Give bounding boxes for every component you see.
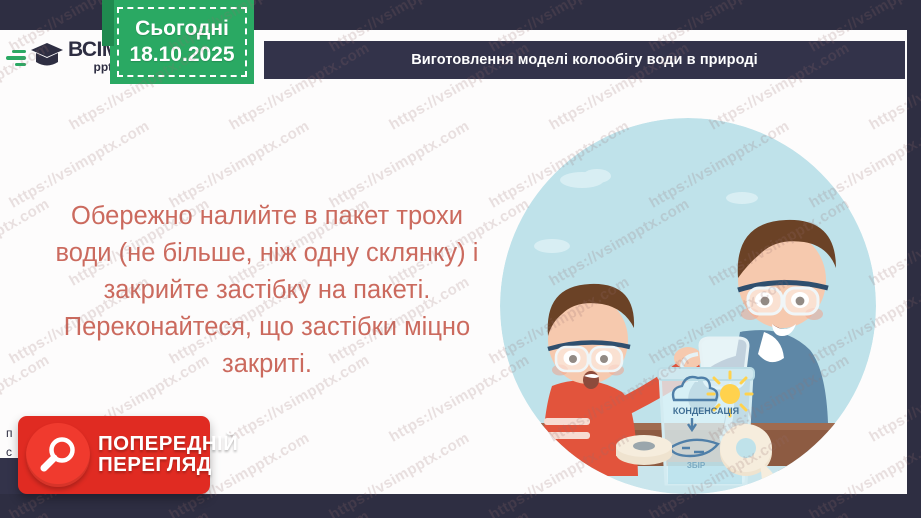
watermark-text: https://vsimpptx.com	[66, 507, 212, 518]
instruction-text: Обережно налийте в пакет трохи води (не …	[42, 198, 492, 383]
watermark-text: https://vsimpptx.com	[386, 507, 532, 518]
slide: 32 пс	[0, 0, 921, 518]
watermark-text: https://vsimpptx.com	[866, 507, 921, 518]
today-date-badge: Сьогодні 18.10.2025	[110, 0, 254, 84]
preview-badge[interactable]: ПОПЕРЕДНІЙ ПЕРЕГЛЯД	[18, 416, 210, 494]
graduation-cap-icon	[30, 39, 64, 73]
preview-line-1: ПОПЕРЕДНІЙ	[98, 434, 238, 455]
watermark-text: https://vsimpptx.com	[706, 507, 852, 518]
watermark-text: https://vsimpptx.com	[546, 507, 692, 518]
badge-fold	[102, 0, 114, 46]
instruction-text-block: Обережно налийте в пакет трохи води (не …	[42, 198, 492, 383]
today-date: 18.10.2025	[129, 43, 234, 67]
watermark-text: https://vsimpptx.com	[226, 507, 372, 518]
preview-badge-label: ПОПЕРЕДНІЙ ПЕРЕГЛЯД	[98, 434, 238, 476]
watermark-text: https://vsimpptx.com	[0, 507, 52, 518]
magnifier-icon	[26, 423, 90, 487]
today-label: Сьогодні	[135, 17, 229, 41]
water-cycle-experiment-illustration: КОНДЕНСАЦІЯ ЗБІР	[492, 118, 884, 494]
speed-lines-icon	[6, 46, 26, 67]
page-title: Виготовлення моделі колообігу води в при…	[411, 52, 758, 68]
preview-line-2: ПЕРЕГЛЯД	[98, 455, 238, 476]
bag-label-condensation: КОНДЕНСАЦІЯ	[673, 406, 739, 416]
slide-title-bar: Виготовлення моделі колообігу води в при…	[264, 41, 905, 79]
